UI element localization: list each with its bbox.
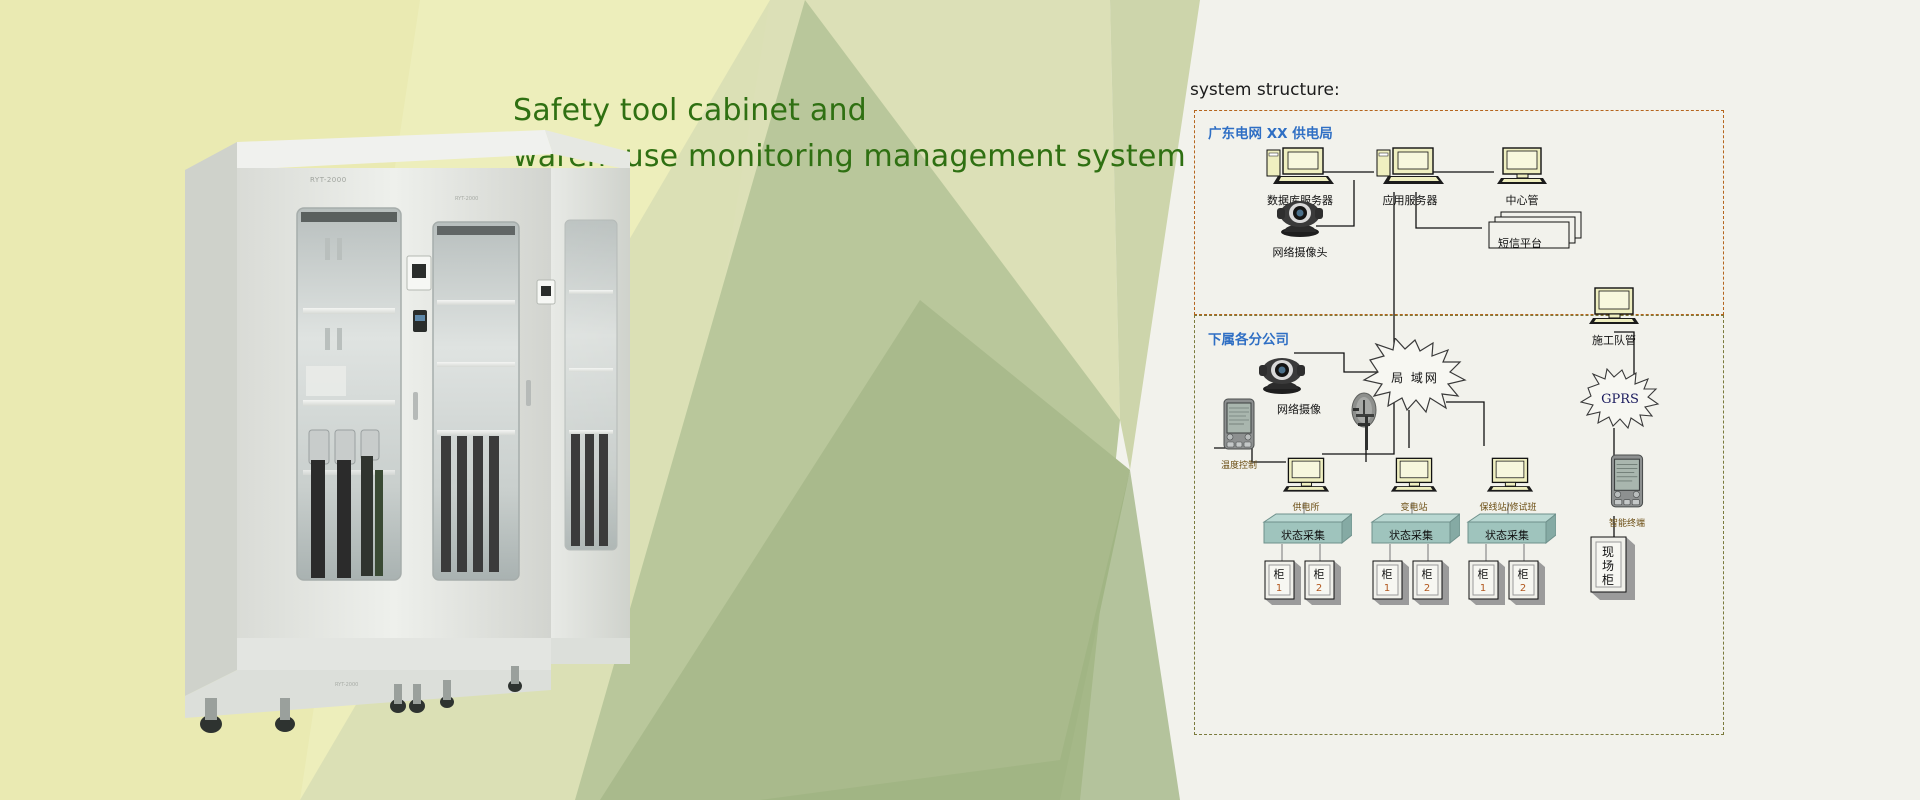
node-temperature-control: 温度控制	[1200, 398, 1278, 471]
collector-substation-label: 状态采集	[1372, 527, 1450, 543]
svg-text:2: 2	[1316, 583, 1322, 594]
svg-text:现: 现	[1602, 545, 1614, 559]
station-substation-pc: 变电站	[1384, 456, 1444, 513]
node-smart-terminal-label: 智能终端	[1594, 516, 1660, 529]
svg-text:柜: 柜	[1602, 573, 1614, 587]
cabinet-box-icon: 柜 1	[1372, 558, 1410, 608]
node-sms-platform-label: 短信平台	[1498, 235, 1542, 251]
crt-monitor-icon	[1389, 456, 1439, 494]
desktop-tower-icon	[1265, 146, 1335, 186]
node-crew-management: 施工队管	[1572, 286, 1656, 348]
station-supply-pc: 供电所	[1276, 456, 1336, 513]
svg-text:2: 2	[1424, 583, 1430, 594]
cabinet-box-icon: 柜 1	[1264, 558, 1302, 608]
svg-text:2: 2	[1520, 583, 1526, 594]
svg-text:柜: 柜	[1314, 568, 1325, 581]
svg-text:柜: 柜	[1382, 568, 1393, 581]
cabinet-line-maintenance-2: 柜 2	[1508, 558, 1546, 613]
svg-text:柜: 柜	[1478, 568, 1489, 581]
desktop-tower-icon	[1375, 146, 1445, 186]
dome-camera-icon	[1250, 355, 1314, 395]
svg-text:RYT-2000: RYT-2000	[455, 196, 478, 202]
node-center-management-label: 中心管	[1482, 192, 1562, 208]
node-gprs-cloud-label: GPRS	[1580, 392, 1660, 407]
collector-line-maintenance-label: 状态采集	[1468, 527, 1546, 543]
safety-tool-cabinet-photo: RYT-2000 RYT-2000	[185, 130, 630, 750]
svg-text:柜: 柜	[1422, 568, 1433, 581]
zone-branch-companies-title: 下属各分公司	[1208, 328, 1289, 348]
svg-text:柜: 柜	[1274, 568, 1285, 581]
cabinet-supply-1: 柜 1	[1264, 558, 1302, 613]
node-network-camera-hq: 网络摄像头	[1252, 198, 1348, 260]
collector-supply: 状态采集	[1256, 510, 1352, 551]
pda-icon	[1609, 454, 1645, 510]
dome-camera-icon	[1268, 198, 1332, 238]
station-line-maintenance-pc: 保线站/修试班	[1480, 456, 1540, 513]
satellite-dish-icon	[1344, 392, 1390, 452]
cabinet-supply-2: 柜 2	[1304, 558, 1342, 613]
cabinet-field: 现 场 柜	[1590, 534, 1638, 609]
crt-monitor-icon	[1281, 456, 1331, 494]
zone-headquarters-title: 广东电网 XX 供电局	[1208, 122, 1333, 142]
svg-text:RYT-2000: RYT-2000	[310, 176, 347, 184]
cabinet-box-icon: 柜 2	[1508, 558, 1546, 608]
node-center-management: 中心管	[1482, 146, 1562, 208]
svg-text:1: 1	[1480, 583, 1486, 594]
node-lan-cloud-label: 局 域网	[1360, 369, 1470, 386]
node-smart-terminal: 智能终端	[1594, 454, 1660, 529]
cabinet-box-icon: 柜 2	[1304, 558, 1342, 608]
crt-monitor-icon	[1495, 146, 1549, 186]
svg-text:1: 1	[1384, 583, 1390, 594]
svg-text:1: 1	[1276, 583, 1282, 594]
system-structure-caption: system structure:	[1190, 80, 1340, 100]
system-structure-diagram: 广东电网 XX 供电局 数据库服务器 应用服务器	[1194, 110, 1724, 735]
node-sms-platform: 短信平台	[1480, 210, 1590, 257]
node-temperature-control-label: 温度控制	[1200, 458, 1278, 471]
pda-icon	[1222, 398, 1256, 452]
crt-monitor-icon	[1587, 286, 1641, 326]
collector-supply-label: 状态采集	[1264, 527, 1342, 543]
node-crew-management-label: 施工队管	[1572, 332, 1656, 348]
node-satellite-dish	[1344, 392, 1390, 457]
cabinet-box-icon: 现 场 柜	[1590, 534, 1638, 604]
svg-text:柜: 柜	[1518, 568, 1529, 581]
node-application-server-label: 应用服务器	[1362, 192, 1458, 208]
collector-substation: 状态采集	[1364, 510, 1460, 551]
crt-monitor-icon	[1485, 456, 1535, 494]
cabinet-line-maintenance-1: 柜 1	[1468, 558, 1506, 613]
cabinet-substation-1: 柜 1	[1372, 558, 1410, 613]
cabinet-box-icon: 柜 2	[1412, 558, 1450, 608]
cabinet-substation-2: 柜 2	[1412, 558, 1450, 613]
svg-text:场: 场	[1602, 559, 1614, 573]
node-gprs-cloud: GPRS	[1580, 368, 1660, 435]
svg-text:RYT-2000: RYT-2000	[335, 682, 358, 688]
node-network-camera-hq-label: 网络摄像头	[1252, 244, 1348, 260]
page-title-line1: Safety tool cabinet and	[513, 93, 867, 128]
node-application-server: 应用服务器	[1362, 146, 1458, 208]
collector-line-maintenance: 状态采集	[1460, 510, 1556, 551]
cabinet-box-icon: 柜 1	[1468, 558, 1506, 608]
slide-canvas: Safety tool cabinet andwarehouse monitor…	[0, 0, 1920, 800]
